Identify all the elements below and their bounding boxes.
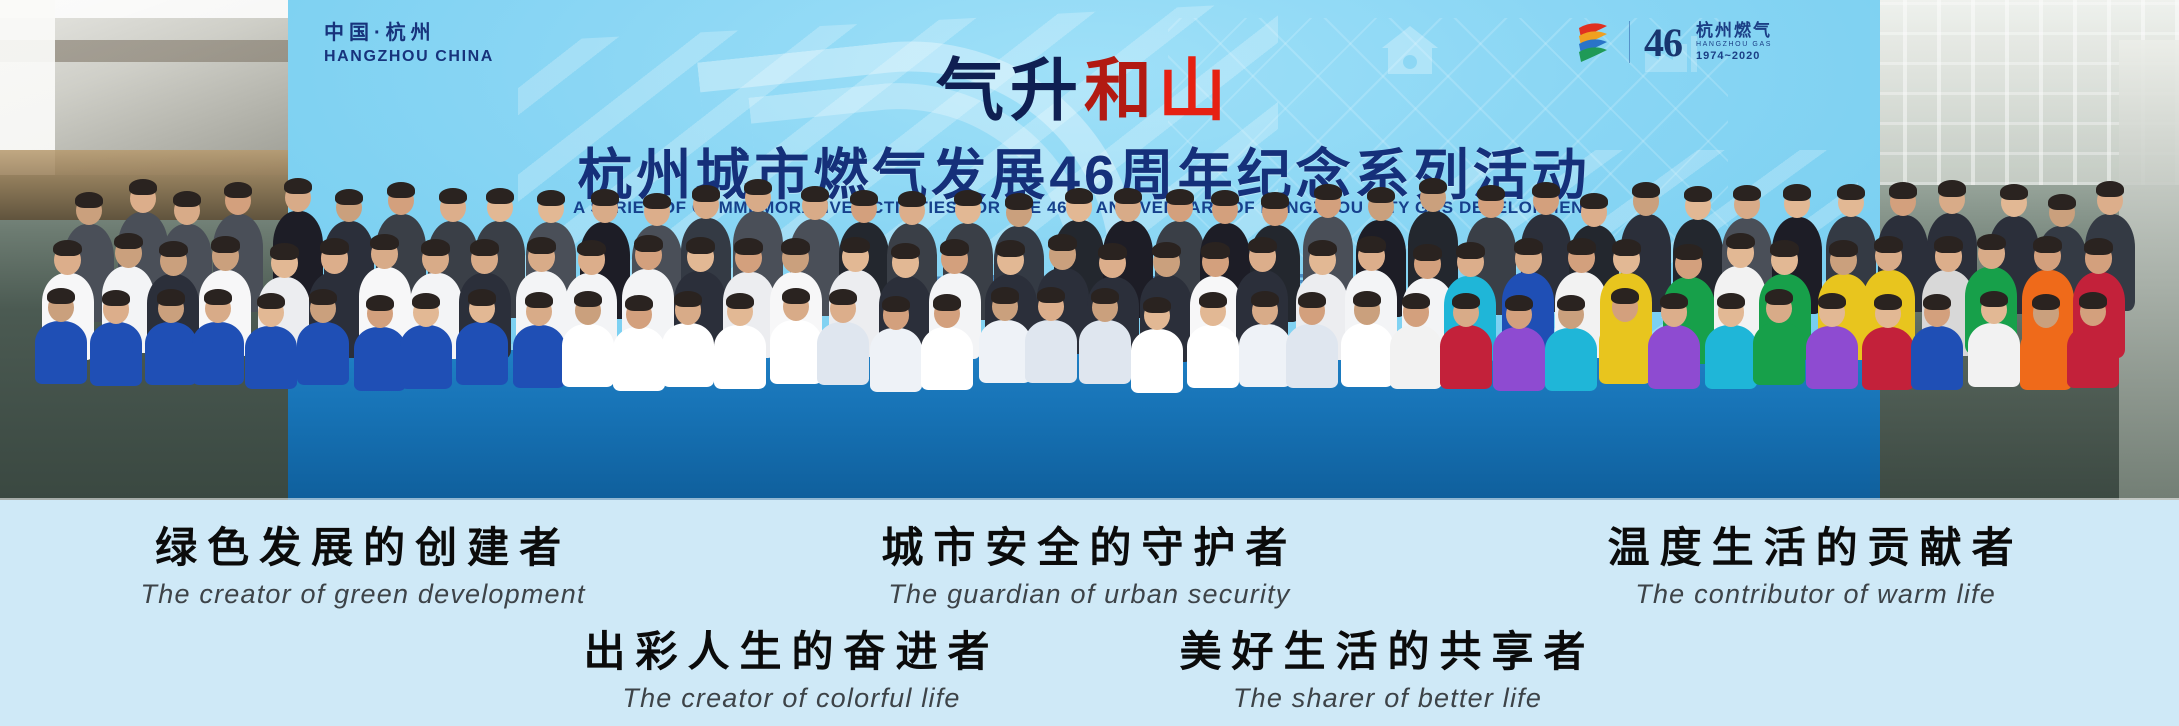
person-hair	[1726, 233, 1755, 250]
person-hair	[173, 191, 201, 207]
person-hair	[1143, 297, 1171, 313]
person-hair	[370, 234, 399, 251]
person-hair	[1923, 294, 1951, 310]
crowd-person	[1025, 287, 1077, 383]
person-body	[921, 327, 973, 391]
crowd-person	[1911, 294, 1963, 390]
person-hair	[525, 292, 553, 308]
person-hair	[933, 294, 961, 310]
person-hair	[1567, 238, 1596, 255]
person-hair	[1477, 185, 1505, 201]
person-hair	[1514, 238, 1543, 255]
person-hair	[1674, 244, 1703, 261]
caption-item: 美好生活的共享者 The sharer of better life	[1180, 618, 1596, 714]
crowd-person	[245, 293, 297, 389]
person-hair	[1065, 188, 1093, 204]
person-body	[456, 322, 508, 386]
person-body	[245, 326, 297, 390]
crowd-person	[979, 287, 1031, 383]
person-hair	[270, 243, 299, 260]
person-hair	[643, 193, 671, 209]
crowd-person	[1545, 295, 1597, 391]
person-hair	[782, 288, 810, 304]
person-hair	[1353, 291, 1381, 307]
person-body	[90, 322, 142, 386]
person-hair	[1874, 294, 1902, 310]
person-hair	[1557, 295, 1585, 311]
person-body	[192, 322, 244, 386]
person-hair	[1770, 240, 1799, 257]
person-hair	[1251, 291, 1279, 307]
person-hair	[1261, 192, 1289, 208]
caption-en: The guardian of urban security	[726, 579, 1452, 610]
person-hair	[1098, 243, 1127, 260]
person-hair	[1091, 288, 1119, 304]
crowd-person	[1079, 288, 1131, 384]
person-hair	[204, 289, 232, 305]
person-hair	[1402, 293, 1430, 309]
person-hair	[284, 178, 312, 194]
crowd-person	[1390, 293, 1442, 389]
person-hair	[1874, 236, 1903, 253]
person-hair	[537, 190, 565, 206]
caption-en: The contributor of warm life	[1453, 579, 2179, 610]
caption-item: 城市安全的守护者 The guardian of urban security	[726, 514, 1452, 610]
person-body	[1025, 320, 1077, 384]
person-body	[35, 321, 87, 385]
crowd-person	[1648, 293, 1700, 389]
crowd-person	[1753, 289, 1805, 385]
person-hair	[1977, 234, 2006, 251]
banner-stage: 中国·杭州 HANGZHOU CHINA 气 升 和 山 杭州城市燃气发展46周…	[0, 0, 2179, 726]
person-hair	[1211, 190, 1239, 206]
person-body	[1341, 323, 1393, 387]
person-hair	[891, 243, 920, 260]
person-hair	[1632, 182, 1660, 198]
person-body	[979, 320, 1031, 384]
caption-cn: 温度生活的贡献者	[1453, 514, 2179, 575]
person-hair	[1248, 237, 1277, 254]
person-hair	[1413, 244, 1442, 261]
person-body	[1440, 325, 1492, 389]
person-body	[1911, 326, 1963, 390]
person-hair	[2000, 184, 2028, 200]
crowd-person	[1705, 293, 1757, 389]
person-hair	[257, 293, 285, 309]
person-hair	[1166, 189, 1194, 205]
crowd-person	[297, 289, 349, 385]
person-hair	[366, 295, 394, 311]
crowd-person	[817, 289, 869, 385]
person-hair	[211, 236, 240, 253]
person-body	[1239, 324, 1291, 388]
person-hair	[53, 240, 82, 257]
person-hair	[1314, 184, 1342, 200]
person-hair	[1783, 184, 1811, 200]
person-hair	[387, 182, 415, 198]
person-hair	[577, 240, 606, 257]
person-hair	[1837, 184, 1865, 200]
person-hair	[625, 295, 653, 311]
person-body	[1131, 329, 1183, 393]
person-hair	[1048, 234, 1077, 251]
person-hair	[1765, 289, 1793, 305]
person-body	[2020, 326, 2072, 390]
crowd-person	[456, 289, 508, 385]
person-hair	[574, 291, 602, 307]
crowd-person	[562, 291, 614, 387]
crowd-person	[1440, 293, 1492, 389]
person-hair	[2096, 181, 2124, 197]
crowd-person	[145, 289, 197, 385]
caption-en: The sharer of better life	[1180, 683, 1596, 714]
person-hair	[898, 191, 926, 207]
person-hair	[2048, 194, 2076, 210]
person-hair	[1456, 242, 1485, 259]
crowd-person	[1968, 291, 2020, 387]
person-hair	[1733, 185, 1761, 201]
crowd-person	[714, 293, 766, 389]
person-hair	[829, 289, 857, 305]
person-hair	[850, 190, 878, 206]
person-hair	[412, 293, 440, 309]
person-body	[1806, 326, 1858, 390]
person-hair	[2084, 238, 2113, 255]
person-hair	[954, 190, 982, 206]
person-body	[613, 327, 665, 391]
crowd-person	[35, 288, 87, 384]
crowd-person	[1862, 294, 1914, 390]
person-hair	[114, 233, 143, 250]
person-body	[817, 322, 869, 386]
person-body	[1862, 327, 1914, 391]
person-hair	[996, 240, 1025, 257]
person-hair	[692, 185, 720, 201]
person-hair	[159, 241, 188, 258]
person-hair	[726, 293, 754, 309]
person-body	[1079, 320, 1131, 384]
person-hair	[129, 179, 157, 195]
caption-cn: 美好生活的共享者	[1180, 618, 1596, 679]
person-hair	[591, 189, 619, 205]
person-hair	[991, 287, 1019, 303]
caption-row-1: 绿色发展的创建者 The creator of green developmen…	[0, 514, 2179, 610]
person-body	[1599, 320, 1651, 384]
caption-cn: 城市安全的守护者	[726, 514, 1452, 575]
person-hair	[634, 235, 663, 252]
crowd-person	[192, 289, 244, 385]
person-hair	[2033, 236, 2062, 253]
person-hair	[335, 189, 363, 205]
person-hair	[1201, 242, 1230, 259]
crowd-person	[513, 292, 565, 388]
person-hair	[1152, 242, 1181, 259]
crowd-person	[1131, 297, 1183, 393]
person-body	[714, 325, 766, 389]
person-body	[662, 323, 714, 387]
person-hair	[1005, 193, 1033, 209]
caption-item: 出彩人生的奋进者 The creator of colorful life	[583, 618, 999, 714]
crowd-person	[870, 296, 922, 392]
crowd-person	[921, 294, 973, 390]
person-body	[870, 328, 922, 392]
person-body	[1493, 327, 1545, 391]
person-body	[1545, 328, 1597, 392]
person-hair	[1580, 193, 1608, 209]
crowd-person	[1806, 293, 1858, 389]
person-hair	[1660, 293, 1688, 309]
person-hair	[674, 291, 702, 307]
person-hair	[2079, 292, 2107, 308]
caption-cn: 绿色发展的创建者	[0, 514, 726, 575]
person-body	[1705, 325, 1757, 389]
person-hair	[224, 182, 252, 198]
crowd-person	[2067, 292, 2119, 388]
crowd-person	[1286, 292, 1338, 388]
person-hair	[468, 289, 496, 305]
person-hair	[1505, 295, 1533, 311]
person-body	[145, 322, 197, 386]
person-hair	[527, 237, 556, 254]
person-hair	[47, 288, 75, 304]
person-hair	[1829, 240, 1858, 257]
person-hair	[2032, 294, 2060, 310]
crowd-person	[1187, 292, 1239, 388]
person-hair	[1419, 178, 1447, 194]
person-hair	[470, 239, 499, 256]
person-hair	[1452, 293, 1480, 309]
crowd-person	[770, 288, 822, 384]
person-body	[1648, 325, 1700, 389]
person-hair	[686, 237, 715, 254]
person-hair	[1612, 239, 1641, 256]
person-hair	[841, 237, 870, 254]
person-body	[400, 325, 452, 389]
person-hair	[801, 186, 829, 202]
person-hair	[439, 188, 467, 204]
crowd-person	[1599, 288, 1651, 384]
caption-item: 绿色发展的创建者 The creator of green developmen…	[0, 514, 726, 610]
person-hair	[486, 188, 514, 204]
person-body	[297, 322, 349, 386]
person-hair	[1357, 236, 1386, 253]
person-hair	[1934, 236, 1963, 253]
person-hair	[421, 239, 450, 256]
person-hair	[320, 238, 349, 255]
person-hair	[1298, 292, 1326, 308]
person-body	[770, 320, 822, 384]
crowd-person	[2020, 294, 2072, 390]
person-hair	[781, 238, 810, 255]
person-hair	[1308, 240, 1337, 257]
person-hair	[309, 289, 337, 305]
person-body	[1286, 324, 1338, 388]
person-hair	[1114, 188, 1142, 204]
caption-en: The creator of green development	[0, 579, 726, 610]
person-hair	[1611, 288, 1639, 304]
group-photo: 中国·杭州 HANGZHOU CHINA 气 升 和 山 杭州城市燃气发展46周…	[0, 0, 2179, 500]
person-hair	[157, 289, 185, 305]
person-body	[562, 324, 614, 388]
crowd-person	[613, 295, 665, 391]
person-hair	[1199, 292, 1227, 308]
caption-cn: 出彩人生的奋进者	[583, 618, 999, 679]
crowd-person	[1341, 291, 1393, 387]
person-hair	[1037, 287, 1065, 303]
person-hair	[1532, 182, 1560, 198]
person-body	[513, 325, 565, 389]
person-hair	[1367, 187, 1395, 203]
person-body	[1187, 325, 1239, 389]
person-body	[1968, 323, 2020, 387]
crowd-person	[662, 291, 714, 387]
person-hair	[1889, 182, 1917, 198]
person-body	[1753, 322, 1805, 386]
person-hair	[1684, 186, 1712, 202]
person-hair	[1818, 293, 1846, 309]
crowd-person	[90, 290, 142, 386]
person-hair	[940, 239, 969, 256]
caption-row-2: 出彩人生的奋进者 The creator of colorful life 美好…	[0, 618, 2179, 714]
crowd-group	[0, 0, 2179, 500]
crowd-person	[400, 293, 452, 389]
crowd-person	[1239, 291, 1291, 387]
caption-item: 温度生活的贡献者 The contributor of warm life	[1453, 514, 2179, 610]
person-hair	[75, 192, 103, 208]
caption-en: The creator of colorful life	[583, 683, 999, 714]
person-hair	[1938, 180, 1966, 196]
person-hair	[882, 296, 910, 312]
person-hair	[744, 179, 772, 195]
person-hair	[1717, 293, 1745, 309]
person-hair	[734, 238, 763, 255]
person-body	[2067, 325, 2119, 389]
person-body	[1390, 325, 1442, 389]
person-hair	[1980, 291, 2008, 307]
caption-panel: 绿色发展的创建者 The creator of green developmen…	[0, 500, 2179, 726]
person-body	[354, 327, 406, 391]
crowd-person	[1493, 295, 1545, 391]
person-hair	[102, 290, 130, 306]
crowd-person	[354, 295, 406, 391]
